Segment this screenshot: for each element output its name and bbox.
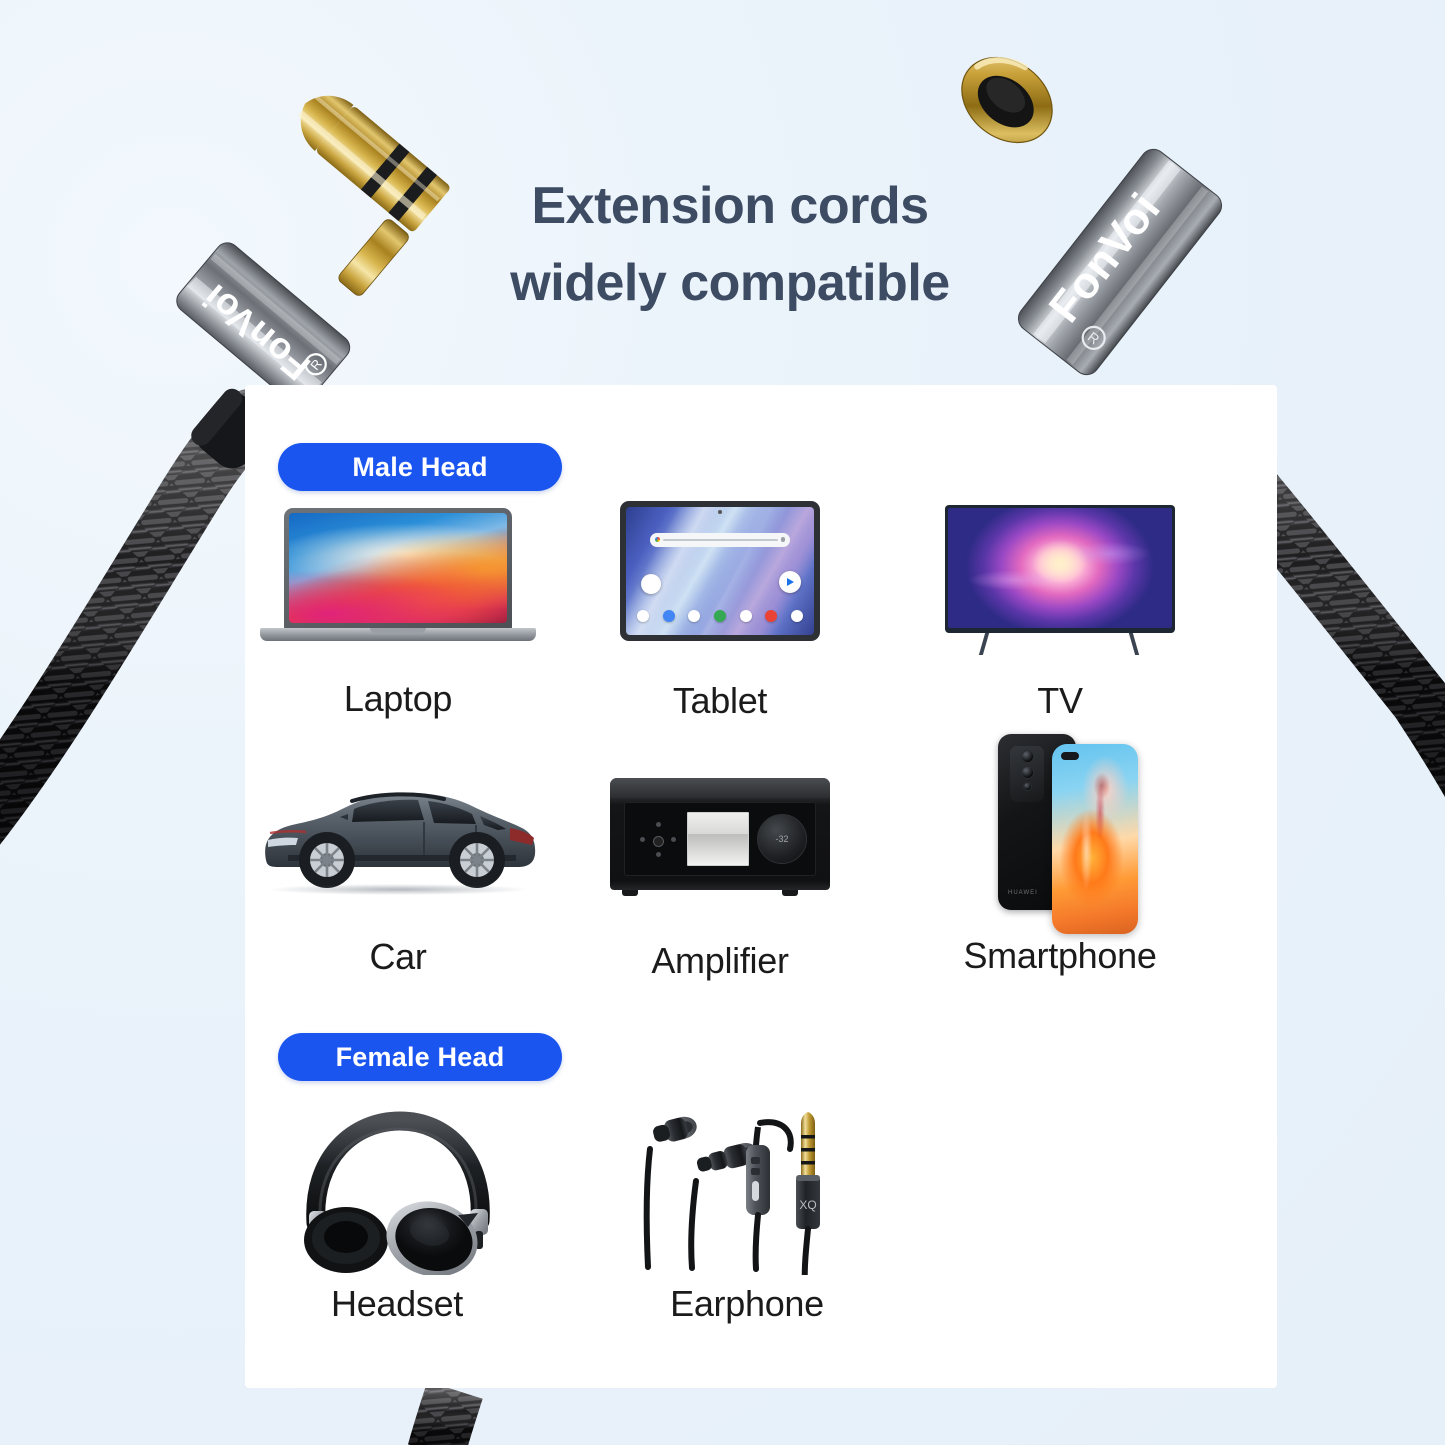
device-smartphone: HUAWEI Smartphone — [940, 728, 1180, 1003]
device-tv: TV — [940, 495, 1180, 745]
device-label-smartphone: Smartphone — [940, 935, 1180, 977]
page-title: Extension cords widely compatible — [420, 168, 1040, 322]
car-icon — [248, 768, 548, 898]
earphone-icon: XQ — [622, 1105, 872, 1280]
device-label-earphone: Earphone — [622, 1283, 872, 1325]
car-shadow — [270, 884, 526, 895]
device-label-tv: TV — [940, 680, 1180, 722]
device-label-tablet: Tablet — [600, 680, 840, 722]
device-amplifier: -32 Amplifier — [600, 772, 840, 1002]
badge-female-head: Female Head — [278, 1033, 562, 1081]
device-headset: Headset — [272, 1105, 522, 1345]
device-car: Car — [248, 768, 548, 998]
device-laptop: Laptop — [252, 500, 544, 750]
device-tablet: Tablet — [600, 495, 840, 745]
svg-text:XQ: XQ — [799, 1198, 816, 1212]
headset-icon — [272, 1105, 522, 1280]
device-label-headset: Headset — [272, 1283, 522, 1325]
device-label-car: Car — [248, 936, 548, 978]
device-label-amplifier: Amplifier — [600, 940, 840, 982]
badge-male-head: Male Head — [278, 443, 562, 491]
infographic-canvas: FonVoi R — [0, 0, 1445, 1445]
device-label-laptop: Laptop — [252, 678, 544, 720]
device-earphone: XQ Earphone — [622, 1105, 872, 1345]
